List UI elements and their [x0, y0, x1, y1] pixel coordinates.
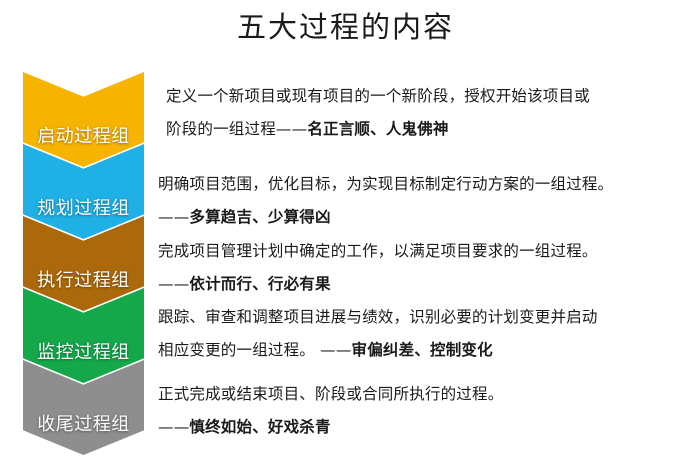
description-motto: 名正言顺、人鬼佛神 [307, 120, 448, 138]
description-line: 定义一个新项目或现有项目的一个新阶段，授权开始该项目或 [158, 80, 688, 113]
description-text: 正式完成或结束项目、阶段或合同所执行的过程。 [158, 385, 503, 403]
slide-canvas: 五大过程的内容 启动过程组 规划过程组 执行过程组 监控过程组 收尾过程组 定义… [0, 0, 691, 456]
description-line: 正式完成或结束项目、阶段或合同所执行的过程。 [158, 378, 688, 411]
description-motto: 多算趋吉、少算得凶 [189, 208, 330, 226]
description-line: ——依计而行、行必有果 [158, 268, 688, 301]
description-line: ——慎终如始、好戏杀青 [158, 411, 688, 444]
description-motto: 审偏纠差、控制变化 [352, 341, 493, 359]
description-planning: 明确项目范围，优化目标，为实现目标制定行动方案的一组过程。——多算趋吉、少算得凶 [158, 168, 688, 234]
description-line: 明确项目范围，优化目标，为实现目标制定行动方案的一组过程。 [158, 168, 688, 201]
description-text: —— [158, 275, 189, 293]
description-motto: 慎终如始、好戏杀青 [189, 418, 330, 436]
description-text: —— [158, 418, 189, 436]
description-text: 相应变更的一组过程。 —— [158, 341, 352, 359]
page-title: 五大过程的内容 [0, 8, 691, 46]
description-text: 定义一个新项目或现有项目的一个新阶段，授权开始该项目或 [166, 87, 590, 105]
description-line: ——多算趋吉、少算得凶 [158, 201, 688, 234]
description-motto: 依计而行、行必有果 [189, 275, 330, 293]
description-monitoring: 跟踪、审查和调整项目进展与绩效，识别必要的计划变更并启动相应变更的一组过程。 —… [158, 301, 688, 367]
description-line: 相应变更的一组过程。 ——审偏纠差、控制变化 [158, 334, 688, 367]
description-line: 阶段的一组过程——名正言顺、人鬼佛神 [158, 113, 688, 146]
description-text: —— [158, 208, 189, 226]
description-executing: 完成项目管理计划中确定的工作，以满足项目要求的一组过程。——依计而行、行必有果 [158, 235, 688, 301]
description-text: 阶段的一组过程—— [166, 120, 307, 138]
description-line: 跟踪、审查和调整项目进展与绩效，识别必要的计划变更并启动 [158, 301, 688, 334]
description-text: 完成项目管理计划中确定的工作，以满足项目要求的一组过程。 [158, 242, 598, 260]
description-initiating: 定义一个新项目或现有项目的一个新阶段，授权开始该项目或阶段的一组过程——名正言顺… [158, 80, 688, 146]
description-closing: 正式完成或结束项目、阶段或合同所执行的过程。——慎终如始、好戏杀青 [158, 378, 688, 444]
chevron-label-closing: 收尾过程组 [37, 415, 130, 455]
process-group-chevron-column: 启动过程组 规划过程组 执行过程组 监控过程组 收尾过程组 [23, 72, 144, 434]
description-text: 明确项目范围，优化目标，为实现目标制定行动方案的一组过程。 [158, 175, 613, 193]
description-line: 完成项目管理计划中确定的工作，以满足项目要求的一组过程。 [158, 235, 688, 268]
description-text: 跟踪、审查和调整项目进展与绩效，识别必要的计划变更并启动 [158, 308, 598, 326]
